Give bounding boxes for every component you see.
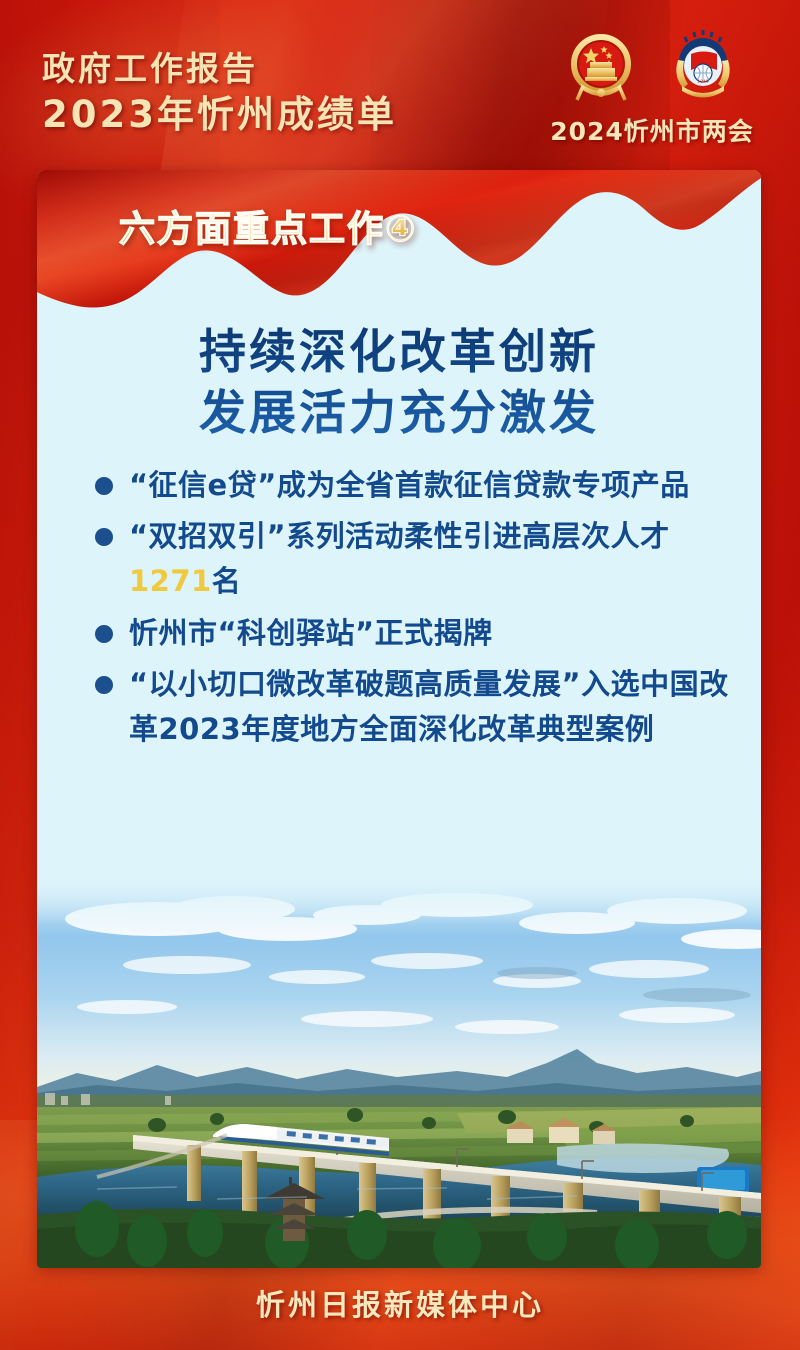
svg-text:1949: 1949 xyxy=(697,79,709,85)
content-card: 六方面重点工作④ 持续深化改革创新 发展活力充分激发 “征信e贷”成为全省首款征… xyxy=(37,170,761,1268)
two-sessions-label: 2024忻州市两会 xyxy=(532,112,772,148)
photo-illustration xyxy=(37,877,761,1268)
emblem-group: 1949 2024忻州市两会 xyxy=(532,24,772,148)
headline-line1: 持续深化改革创新 xyxy=(37,322,761,383)
photo-train-viaduct xyxy=(37,877,761,1268)
bullet-dot-icon xyxy=(95,528,113,546)
bullet-text: “双招双引”系列活动柔性引进高层次人才1271名 xyxy=(129,514,735,604)
bullet-text: “以小切口微改革破题高质量发展”入选中国改革2023年度地方全面深化改革典型案例 xyxy=(129,662,735,752)
poster-root: 政府工作报告 2023年忻州成绩单 xyxy=(0,0,800,1350)
poster-header: 政府工作报告 2023年忻州成绩单 xyxy=(0,0,800,170)
bullet-text: 忻州市“科创驿站”正式揭牌 xyxy=(129,611,735,656)
brand-title: 政府工作报告 2023年忻州成绩单 xyxy=(42,50,462,137)
bullet-text-run: “以小切口微改革破题高质量发展”入选中国改革2023年度地方全面深化改革典型案例 xyxy=(129,667,729,746)
bullet-dot-icon xyxy=(95,676,113,694)
footer-credit: 忻州日报新媒体中心 xyxy=(0,1282,800,1324)
headline-line2: 发展活力充分激发 xyxy=(37,383,761,444)
brand-title-line2: 2023年忻州成绩单 xyxy=(42,92,462,137)
brand-title-line1: 政府工作报告 xyxy=(42,50,462,89)
cppcc-emblem-icon: 1949 xyxy=(665,28,741,108)
section-label: 六方面重点工作④ xyxy=(119,200,417,252)
bullet-text-run: 忻州市“科创驿站”正式揭牌 xyxy=(129,616,493,650)
bullet-text: “征信e贷”成为全省首款征信贷款专项产品 xyxy=(129,463,735,508)
poster-footer: 忻州日报新媒体中心 xyxy=(0,1282,800,1324)
bullet-dot-icon xyxy=(95,477,113,495)
bullet-item: “双招双引”系列活动柔性引进高层次人才1271名 xyxy=(95,514,735,604)
bullet-dot-icon xyxy=(95,625,113,643)
bullet-list: “征信e贷”成为全省首款征信贷款专项产品“双招双引”系列活动柔性引进高层次人才1… xyxy=(95,463,735,758)
bullet-item: “征信e贷”成为全省首款征信贷款专项产品 xyxy=(95,463,735,508)
bullet-item: “以小切口微改革破题高质量发展”入选中国改革2023年度地方全面深化改革典型案例 xyxy=(95,662,735,752)
national-emblem-china-icon xyxy=(563,28,639,108)
headline: 持续深化改革创新 发展活力充分激发 xyxy=(37,322,761,444)
bullet-text-run: “征信e贷”成为全省首款征信贷款专项产品 xyxy=(129,468,690,502)
bullet-text-run: “双招双引”系列活动柔性引进高层次人才 xyxy=(129,519,670,553)
bullet-text-run: 名 xyxy=(212,564,242,598)
bullet-item: 忻州市“科创驿站”正式揭牌 xyxy=(95,611,735,656)
bullet-highlight-value: 1271 xyxy=(129,564,212,598)
